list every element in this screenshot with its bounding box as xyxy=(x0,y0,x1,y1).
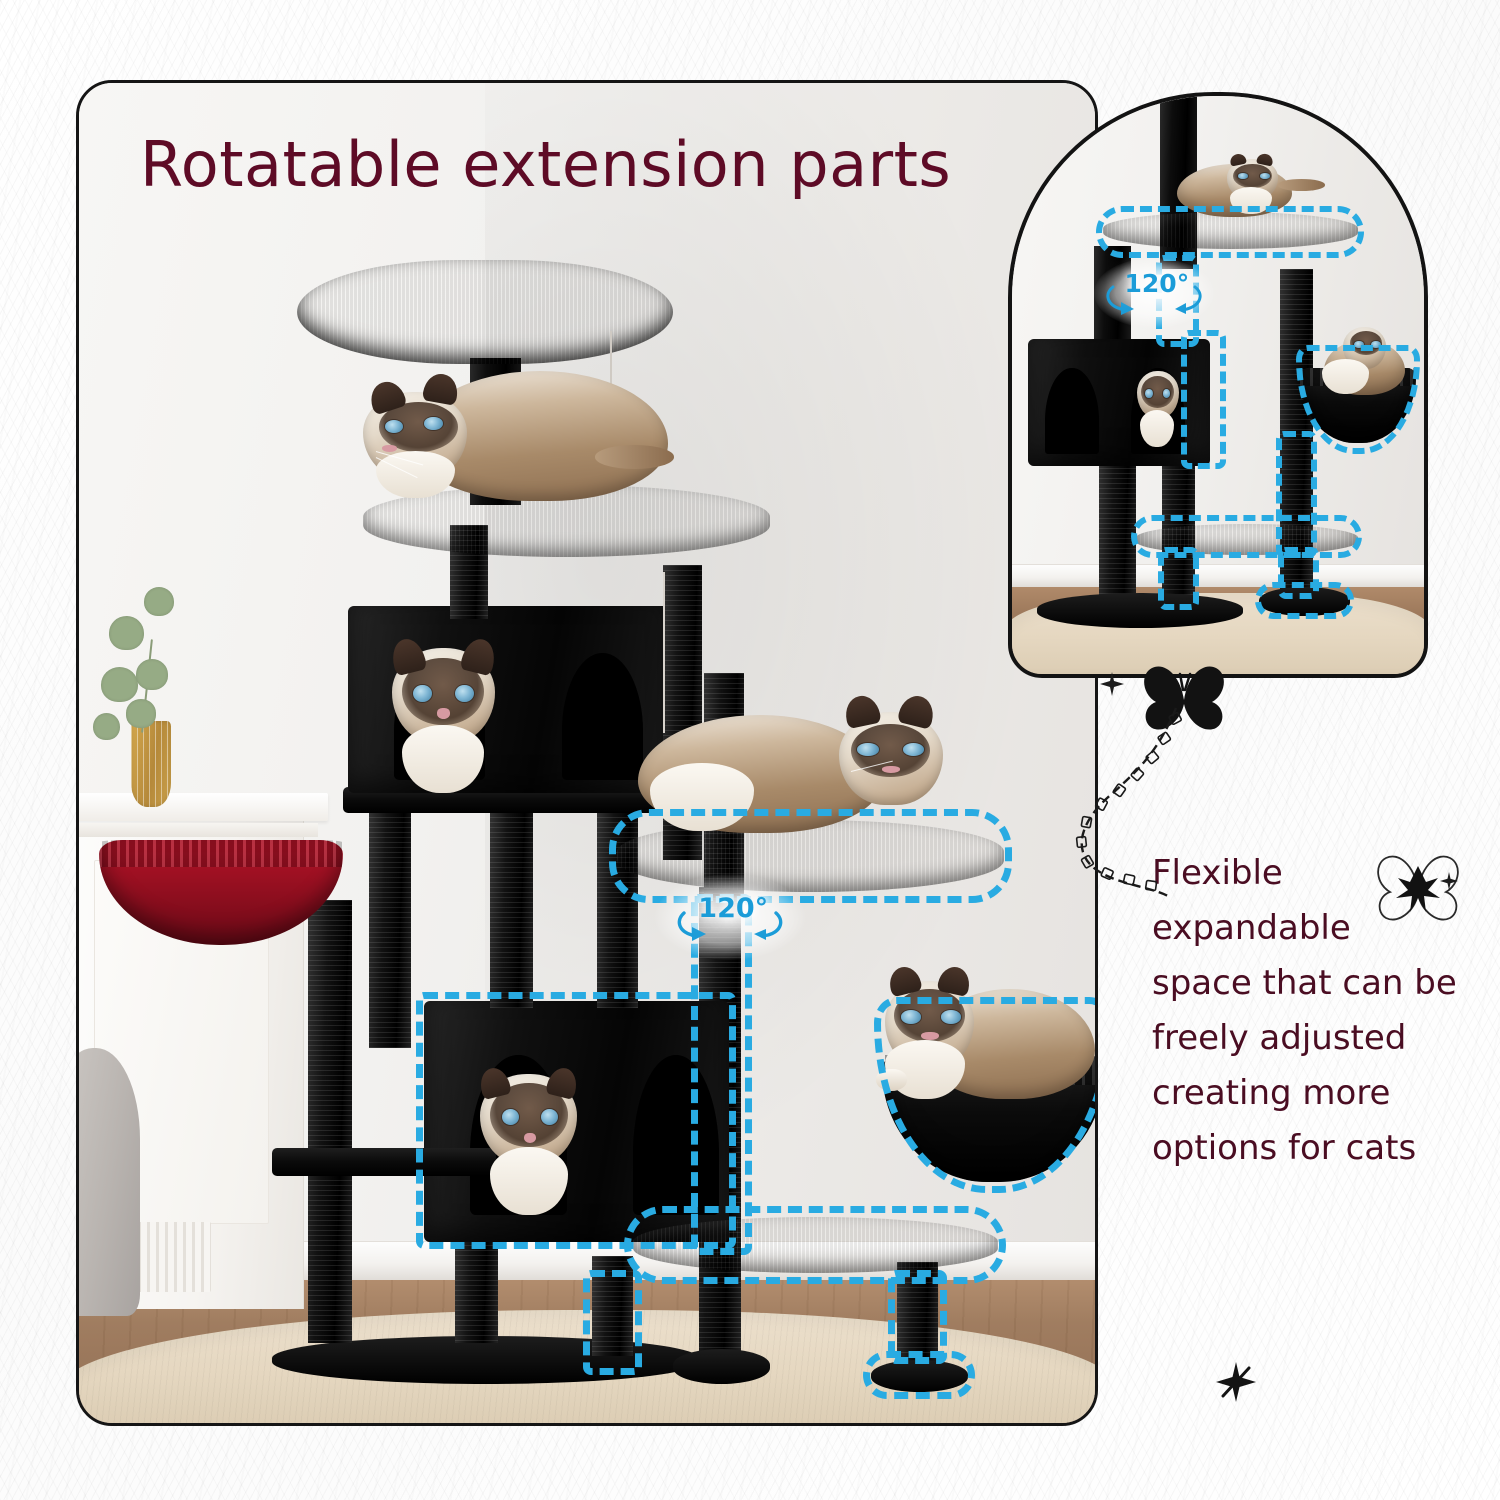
copy-line: space that can be xyxy=(1152,956,1482,1011)
cat-eye xyxy=(1354,341,1364,348)
cat-in-black-hammock xyxy=(871,967,1095,1101)
cat-eye xyxy=(1371,341,1381,348)
cat-ear xyxy=(842,692,881,728)
scratching-post xyxy=(597,807,638,1008)
rotation-degrees-label: 120° xyxy=(1125,271,1190,296)
cat-chest-bib xyxy=(1230,187,1272,214)
main-product-photo: 120° xyxy=(76,80,1098,1426)
inset-cat-in-hammock xyxy=(1300,327,1407,396)
inset-cat-in-condo xyxy=(1131,368,1185,449)
cat-paw xyxy=(876,1069,907,1090)
scratching-post xyxy=(369,807,412,1048)
inset-base-board xyxy=(1037,593,1243,628)
cat-eye xyxy=(941,1010,961,1023)
top-plush-bed xyxy=(297,260,673,365)
hammock-ruffle xyxy=(99,840,343,867)
rotation-badge-main: 120° xyxy=(670,887,790,947)
cat-eye xyxy=(1163,389,1170,398)
cat-chest-bib xyxy=(376,451,455,498)
tree-base-board xyxy=(272,1336,699,1384)
vase-ribs xyxy=(131,721,172,807)
scratching-post xyxy=(308,900,353,1342)
armchair xyxy=(76,1048,140,1316)
plant-leaf xyxy=(126,699,156,727)
plant-leaf xyxy=(136,659,169,690)
living-room-scene: 120° xyxy=(79,83,1095,1423)
cat-nose xyxy=(524,1133,536,1143)
copy-line: options for cats xyxy=(1152,1121,1482,1176)
cat-eye xyxy=(455,685,473,702)
post-foot xyxy=(673,1349,770,1384)
scratching-post xyxy=(592,1256,633,1357)
cat-ear xyxy=(460,636,499,677)
post-foot xyxy=(871,1360,968,1392)
scratching-post xyxy=(490,807,533,1008)
sparkle-star-icon xyxy=(1440,872,1458,890)
cat-in-lower-condo xyxy=(470,1068,592,1215)
mantel-lip xyxy=(76,823,318,838)
decorative-chain-trail xyxy=(1018,700,1228,900)
cat-chest-bib xyxy=(402,725,484,793)
cat-tail xyxy=(1278,179,1325,190)
cat-eye xyxy=(901,1010,921,1023)
rotation-degrees-label: 120° xyxy=(698,895,768,922)
mantel-shelf xyxy=(76,793,328,821)
cat-chest-bib xyxy=(490,1147,568,1215)
cat-eye xyxy=(1260,173,1270,179)
cat-chest-bib xyxy=(1322,359,1369,394)
cat-in-upper-condo xyxy=(379,639,511,793)
sparkle-star-icon xyxy=(1100,672,1124,696)
inset-post-foot xyxy=(1259,587,1350,616)
cat-nose xyxy=(882,766,900,773)
cat-chest-bib xyxy=(1140,410,1174,447)
copy-line: creating more xyxy=(1152,1066,1482,1121)
condo-shelf xyxy=(272,1148,496,1176)
page-title: Rotatable extension parts xyxy=(140,128,1040,201)
cat-eye xyxy=(1238,173,1248,179)
inset-cat-top xyxy=(1177,154,1325,218)
copy-line: freely adjusted xyxy=(1152,1011,1482,1066)
inset-detail-photo: 120° xyxy=(1008,92,1428,678)
inset-scene: 120° xyxy=(1012,96,1424,674)
sparkle-star-icon xyxy=(1216,1362,1256,1402)
plant-leaf xyxy=(93,713,119,740)
bottom-red-platform xyxy=(633,1217,999,1273)
cat-eye xyxy=(857,743,878,756)
inset-scratching-post xyxy=(1099,443,1136,616)
cat-nose xyxy=(921,1032,939,1040)
plant-leaf xyxy=(109,616,144,650)
plant-leaf xyxy=(101,667,138,702)
cat-eye xyxy=(424,417,442,430)
inset-baseboard xyxy=(1012,564,1424,588)
inset-lower-red-platform xyxy=(1136,524,1358,555)
plant-leaf xyxy=(144,587,174,616)
cat-on-middle-platform xyxy=(638,693,943,834)
cat-tail xyxy=(595,445,674,469)
cat-chest-bib xyxy=(650,763,754,831)
rotation-badge-inset: 120° xyxy=(1099,267,1209,319)
cat-eye xyxy=(1145,389,1152,398)
cat-eye xyxy=(413,685,431,702)
cat-on-upper-platform xyxy=(363,354,668,501)
inset-scratching-post xyxy=(1280,269,1313,604)
